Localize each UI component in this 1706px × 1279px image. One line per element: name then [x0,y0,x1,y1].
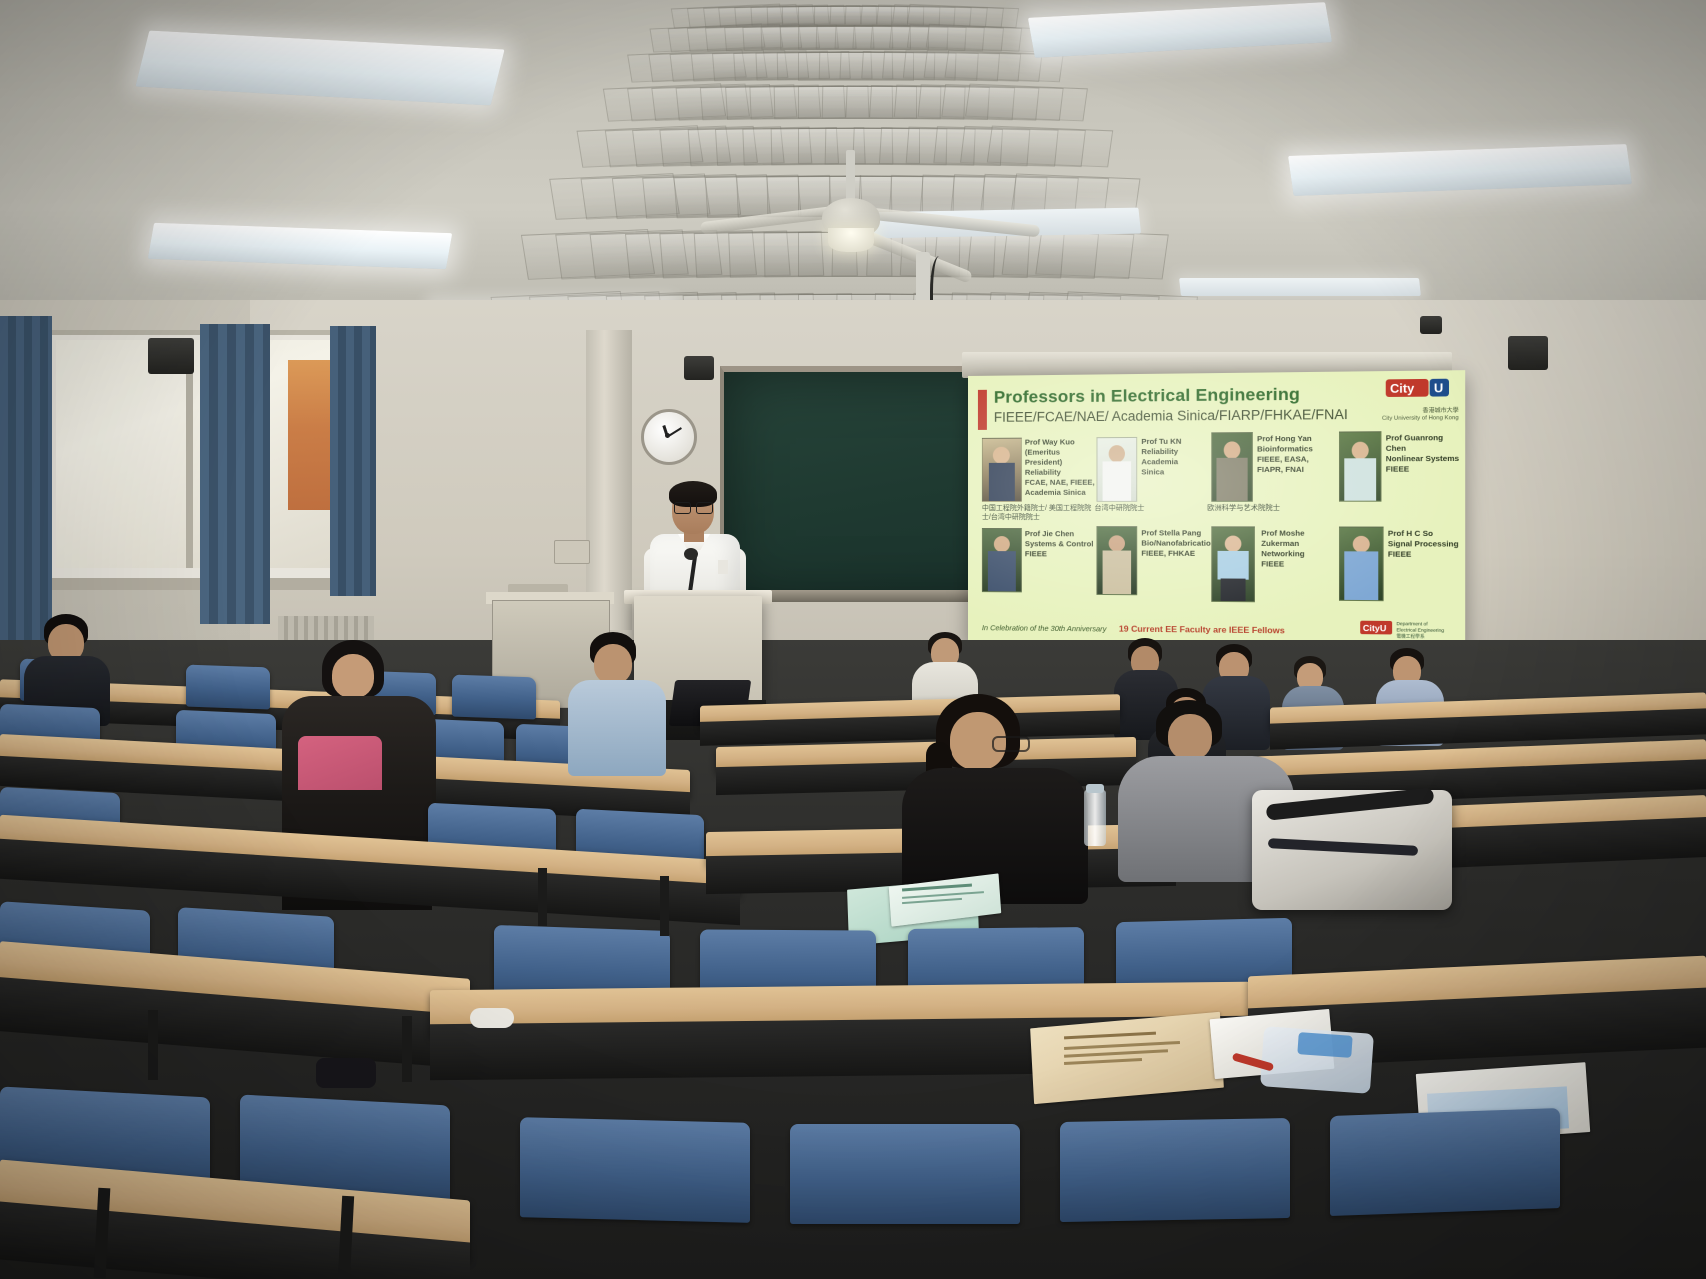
slide-title: Professors in Electrical Engineering [994,384,1300,407]
water-bottle[interactable] [1084,790,1106,846]
chair-back[interactable] [520,1117,750,1223]
professor-name: Prof Jie Chen [1025,529,1102,539]
svg-text:U: U [1434,381,1443,396]
ceiling-tile [1035,229,1169,279]
professor-name: Prof H C So [1388,529,1463,540]
professor-role: FIEEE [1261,559,1335,570]
professor-photo [1211,432,1253,502]
professor-role: FIEEE [1025,549,1102,559]
professor-role: Systems & Control [1025,539,1102,549]
eyeglasses-icon [992,736,1030,752]
tissue-label [1297,1032,1352,1058]
professor-role: Academia [1141,457,1205,467]
chair-leg [538,868,547,926]
shoe [470,1008,514,1028]
professor-role: Reliability [1141,447,1205,458]
wall-socket-panel[interactable] [554,540,590,564]
professor-name: Prof Way Kuo [1025,437,1098,448]
chair-leg [148,1010,158,1080]
professor-info: Prof Tu KN Reliability Academia Sinica [1141,437,1205,478]
chair-leg [402,1016,412,1082]
professor-name: Prof Moshe Zukerman [1261,528,1335,549]
slide-accent-bar [978,390,987,430]
slide-footer-center: 19 Current EE Faculty are IEEE Fellows [1119,623,1285,635]
professor-photo [982,438,1022,502]
professor-name: Prof Hong Yan [1257,434,1326,445]
fan-lamp [828,228,874,252]
svg-text:City: City [1390,381,1415,396]
curtain-left[interactable] [0,316,52,646]
eyeglasses-icon [696,502,713,514]
svg-text:Department of: Department of [1396,621,1428,627]
slide-footer-left: In Celebration of the 30th Anniversary [982,623,1107,633]
professor-role: Sinica [1141,467,1205,477]
professor-role: (Emeritus President) [1025,447,1098,468]
window-sill [40,578,355,590]
curtain-middle[interactable] [200,324,270,624]
professor-info: Prof Hong Yan Bioinformatics FIEEE, EASA… [1257,434,1326,476]
professor-role: Networking [1261,549,1335,560]
professor-info: Prof Guanrong Chen Nonlinear Systems FIE… [1386,433,1465,475]
professor-role: Signal Processing [1388,539,1463,550]
chair-back[interactable] [1330,1108,1560,1216]
ceiling-tile [965,84,1088,121]
professor-photo [982,528,1022,592]
professor-info: Prof Way Kuo (Emeritus President) Reliab… [1025,437,1098,498]
professor-photo [1096,437,1137,502]
professor-caption-zh: 欧洲科学与艺术院院士 [1207,504,1322,513]
window-mullion [186,340,193,568]
professor-role: Nonlinear Systems [1386,454,1465,465]
professor-role: Reliability [1025,468,1098,478]
slide-subtitle: FIEEE/FCAE/NAE/ Academia Sinica/FIARP/FH… [994,407,1348,425]
eyeglasses-icon [674,502,691,514]
professor-role: Academia Sinica [1025,488,1098,498]
cityu-name-en: City University of Hong Kong [1382,415,1459,423]
professor-info: Prof Jie Chen Systems & Control FIEEE [1025,529,1102,560]
lecture-hall-screenshot: Professors in Electrical Engineering FIE… [0,0,1706,1279]
chair-back[interactable] [1060,1118,1290,1222]
svg-text:CityU: CityU [1363,623,1387,634]
shoe [316,1058,376,1088]
professor-role: FIEEE [1388,549,1463,560]
professor-role: FIEEE, EASA, [1257,454,1326,465]
chair-back[interactable] [452,675,536,720]
wall-speaker [1508,336,1548,370]
professor-role: FIEEE [1386,464,1465,475]
microphone-icon[interactable] [684,548,698,560]
professor-name: Prof Guanrong Chen [1386,433,1465,454]
professor-photo [1096,526,1137,595]
chair-leg [660,876,669,936]
professor-caption-zh: 台湾中研院院士 [1094,504,1186,513]
cityu-wordmark: 香港城市大學 City University of Hong Kong [1382,408,1459,423]
clock-center [665,433,670,438]
professor-role: FCAE, NAE, FIEEE, [1025,478,1098,488]
professor-info: Prof Moshe Zukerman Networking FIEEE [1261,528,1335,569]
professor-info: Prof H C So Signal Processing FIEEE [1388,529,1463,560]
wall-speaker [684,356,714,380]
wall-speaker [1420,316,1442,334]
ceiling-tile [925,23,1041,52]
wall-speaker [148,338,194,374]
professor-photo [1339,431,1381,501]
professor-photo [1211,526,1255,602]
svg-text:Electrical Engineering: Electrical Engineering [1396,627,1444,633]
professor-role: FIAPR, FNAI [1257,465,1326,476]
chair-back[interactable] [186,665,270,710]
professor-name: Prof Tu KN [1141,437,1205,448]
professor-role: Bioinformatics [1257,444,1326,455]
professor-caption-zh: 中国工程院外籍院士/ 美国工程院院士/台湾中研院院士 [982,504,1093,522]
jacket-panel [298,736,382,798]
chair-back[interactable] [790,1124,1020,1224]
projection-screen: Professors in Electrical Engineering FIE… [968,370,1465,650]
svg-text:電機工程學系: 電機工程學系 [1396,632,1425,640]
professor-photo [1339,527,1384,602]
ceiling-light-panel [1179,278,1421,296]
bottle-cap [1086,784,1104,793]
curtain-right[interactable] [330,326,376,596]
wall-column [586,330,632,630]
presenter-badge [718,560,728,574]
wall-clock [641,409,697,465]
ceiling-tile [987,125,1113,167]
